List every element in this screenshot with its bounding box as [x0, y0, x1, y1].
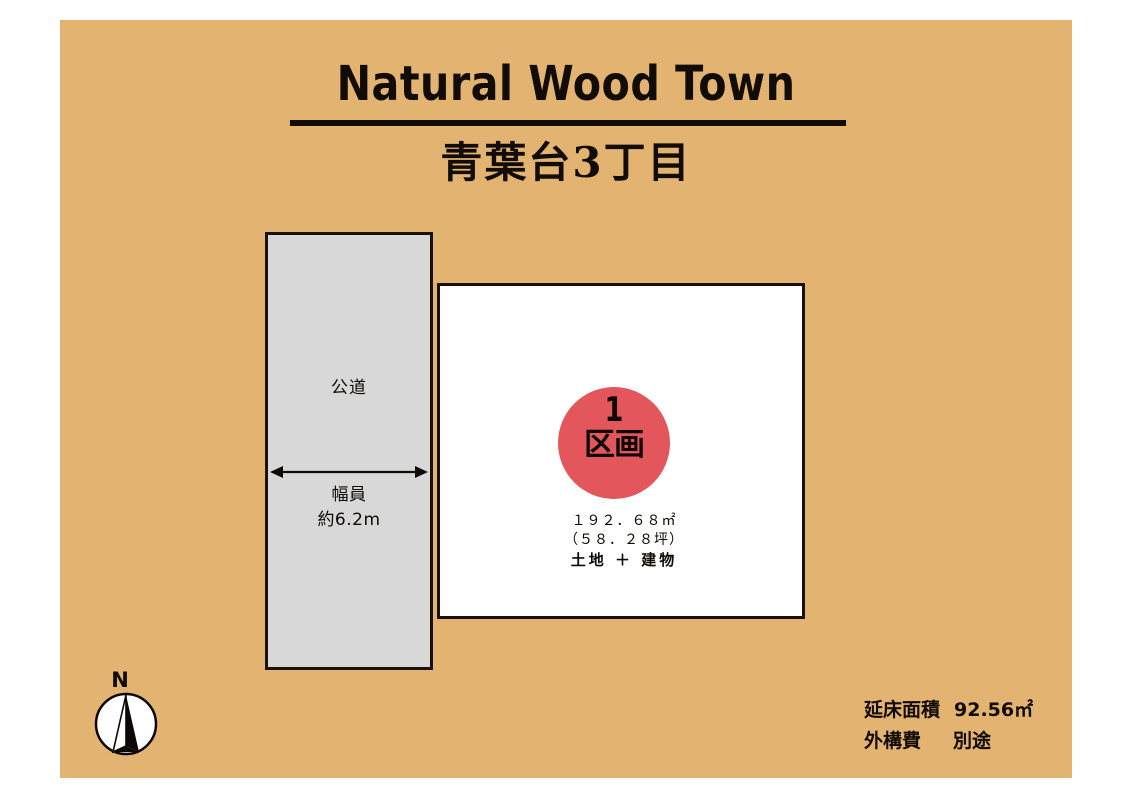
building-specs: 延床面積92.56㎡ 外構費別途 — [864, 695, 1033, 757]
spec-label-floor-area: 延床面積 — [864, 695, 940, 726]
spec-row: 延床面積92.56㎡ — [864, 695, 1033, 726]
site-plan-board: Natural Wood Town 青葉台3丁目 1 区画 １９２．６８㎡ （５… — [60, 20, 1072, 778]
parcel-area-tsubo: （５８．２８坪） — [440, 531, 808, 550]
spec-value-exterior-cost: 別途 — [953, 726, 991, 757]
parcel-area-sqm: １９２．６８㎡ — [440, 512, 808, 531]
road-width-block: 幅員 約6.2m — [268, 483, 430, 533]
public-road-label: 公道 — [268, 373, 430, 398]
parcel-unit-label: 区画 — [558, 427, 670, 463]
road-width-value: 約6.2m — [268, 508, 430, 533]
parcel-area-block: １９２．６８㎡ （５８．２８坪） — [440, 512, 808, 550]
lot-boundary: 1 区画 １９２．６８㎡ （５８．２８坪） 土地 ＋ 建物 — [437, 283, 805, 619]
road-width-dimension-arrow-icon — [270, 464, 428, 480]
page-title: Natural Wood Town — [131, 56, 1001, 112]
parcel-number: 1 — [569, 393, 659, 427]
page-subtitle: 青葉台3丁目 — [60, 136, 1072, 190]
spec-row: 外構費別途 — [864, 726, 1033, 757]
road-width-key: 幅員 — [268, 483, 430, 508]
public-road-area: 公道 幅員 約6.2m — [265, 232, 433, 670]
spec-value-floor-area: 92.56㎡ — [954, 695, 1033, 726]
compass-rose: N — [94, 670, 166, 762]
spec-label-exterior-cost: 外構費 — [864, 726, 921, 757]
title-divider — [290, 120, 846, 126]
compass-needle-icon — [94, 692, 158, 756]
parcel-marker-circle: 1 区画 — [558, 387, 670, 499]
compass-north-label: N — [94, 670, 146, 691]
parcel-usage-label: 土地 ＋ 建物 — [440, 550, 808, 570]
